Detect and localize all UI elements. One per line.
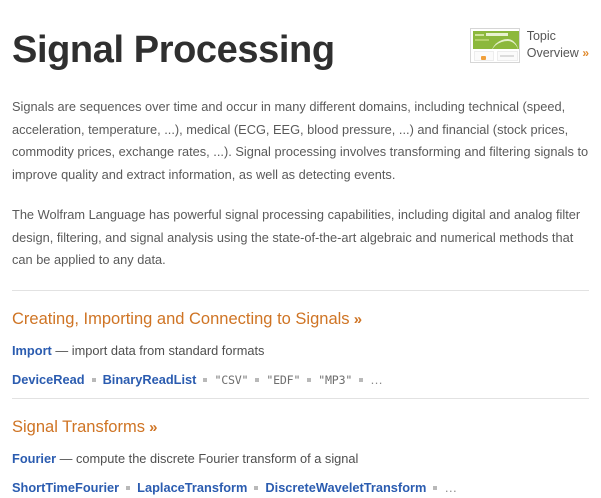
separator-square-icon	[254, 486, 258, 490]
function-entry-row: Import — import data from standard forma…	[12, 341, 589, 361]
separator-square-icon	[92, 378, 96, 382]
related-function-link[interactable]: DeviceRead	[12, 372, 85, 387]
topic-overview-label: Topic Overview »	[527, 28, 589, 62]
related-function-link[interactable]: DiscreteWaveletTransform	[265, 480, 426, 495]
chevron-double-right-icon: »	[350, 311, 363, 328]
function-link[interactable]: Import	[12, 343, 52, 358]
topic-overview-link[interactable]: Topic Overview »	[470, 28, 589, 63]
related-items-row: DeviceReadBinaryReadList"CSV""EDF""MP3"…	[12, 370, 589, 390]
separator-square-icon	[433, 486, 437, 490]
intro-paragraph-1: Signals are sequences over time and occu…	[12, 96, 589, 186]
function-description: — compute the discrete Fourier transform…	[56, 451, 358, 466]
related-items-row: ShortTimeFourierLaplaceTransformDiscrete…	[12, 478, 589, 498]
page-title: Signal Processing	[12, 28, 335, 72]
function-link[interactable]: Fourier	[12, 451, 56, 466]
topic-page: Signal Processing Topic Overview »	[0, 0, 601, 467]
thumbnail-green-panel	[473, 31, 519, 49]
section: Creating, Importing and Connecting to Si…	[12, 291, 589, 390]
thumbnail-lower-panels	[473, 51, 519, 61]
thumbnail-line-2	[486, 33, 508, 36]
related-string-literal: "CSV"	[214, 373, 248, 387]
thumbnail-line-1	[475, 34, 484, 36]
separator-square-icon	[359, 378, 363, 382]
thumbnail-panel-left	[474, 51, 494, 61]
topic-overview-line1: Topic	[527, 29, 556, 43]
function-entry-row: Fourier — compute the discrete Fourier t…	[12, 449, 589, 469]
related-string-literal: "EDF"	[266, 373, 300, 387]
chevron-double-right-icon: »	[582, 46, 589, 60]
intro-paragraph-2: The Wolfram Language has powerful signal…	[12, 204, 589, 272]
related-function-link[interactable]: ShortTimeFourier	[12, 480, 119, 495]
thumbnail-line-3	[475, 39, 489, 41]
section: Signal Transforms »Fourier — compute the…	[12, 399, 589, 498]
chevron-double-right-icon: »	[145, 419, 158, 436]
intro-section: Signals are sequences over time and occu…	[12, 96, 589, 272]
thumbnail-curve	[491, 39, 519, 49]
topic-overview-line2: Overview	[527, 46, 579, 60]
section-title-link[interactable]: Signal Transforms »	[12, 416, 589, 439]
separator-square-icon	[307, 378, 311, 382]
separator-square-icon	[126, 486, 130, 490]
page-header: Signal Processing Topic Overview »	[12, 0, 589, 96]
section-title-text: Signal Transforms	[12, 418, 145, 436]
related-more-ellipsis[interactable]: …	[370, 372, 383, 387]
related-function-link[interactable]: LaplaceTransform	[137, 480, 247, 495]
section-title-text: Creating, Importing and Connecting to Si…	[12, 310, 350, 328]
related-string-literal: "MP3"	[318, 373, 352, 387]
separator-square-icon	[203, 378, 207, 382]
separator-square-icon	[255, 378, 259, 382]
related-function-link[interactable]: BinaryReadList	[103, 372, 197, 387]
related-more-ellipsis[interactable]: …	[444, 480, 457, 495]
sections-container: Creating, Importing and Connecting to Si…	[12, 290, 589, 498]
section-title-link[interactable]: Creating, Importing and Connecting to Si…	[12, 308, 589, 331]
function-description: — import data from standard formats	[52, 343, 265, 358]
thumbnail-panel-right	[497, 51, 518, 61]
topic-overview-thumbnail-icon	[470, 28, 520, 63]
